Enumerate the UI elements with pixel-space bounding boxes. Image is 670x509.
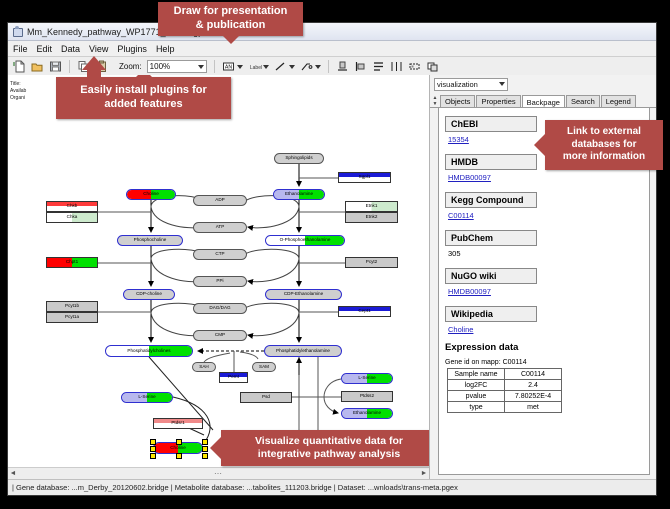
side-panel-tabs[interactable]: Objects Properties Backpage Search Legen… (430, 93, 656, 108)
pathway-node-sam[interactable]: SAM (252, 362, 276, 372)
pathway-node-etnk1[interactable]: Etnk1 (345, 201, 398, 212)
zoom-value: 100% (150, 62, 170, 71)
node-label: SAH (199, 365, 208, 370)
save-icon[interactable] (49, 60, 62, 73)
node-label: Phosphatidylethanolamine (276, 349, 330, 354)
callout-plugins-pointer-stem (87, 68, 101, 78)
tab-properties[interactable]: Properties (476, 95, 520, 107)
pathway-node-phosphocholine[interactable]: Phosphocholine (117, 235, 183, 246)
align-left-icon[interactable] (354, 60, 367, 73)
db-link-kegg[interactable]: C00114 (448, 211, 649, 220)
open-folder-icon[interactable] (31, 60, 44, 73)
callout-visualize-line1: Visualize quantitative data for (255, 435, 403, 448)
zoom-combo[interactable]: 100% (147, 60, 207, 73)
pathway-node-phosphatidylcholines[interactable]: Phosphatidylcholines (105, 345, 193, 357)
tab-search[interactable]: Search (566, 95, 600, 107)
pathway-node-atp[interactable]: ATP (193, 222, 247, 233)
datanode-tool[interactable]: AN (222, 60, 243, 73)
pathway-node-pcyt1b[interactable]: Pcyt1b (46, 301, 98, 312)
chevron-down-icon[interactable] (315, 65, 321, 69)
toolbar-separator-1 (69, 60, 70, 73)
callout-links-line2: databases for (563, 139, 645, 152)
pathway-node-psd[interactable]: Psd (240, 392, 292, 403)
cell-label: pvalue (448, 391, 505, 402)
node-label: Chka (67, 215, 78, 220)
node-label: Chpt1 (66, 260, 78, 265)
new-file-icon[interactable] (13, 60, 26, 73)
info-title-label: Title: (10, 81, 21, 87)
pathway-node-ethanolamine-top[interactable]: Ethanolamine (273, 189, 325, 200)
pathway-canvas[interactable]: Title: Availab Organi (8, 75, 429, 465)
svg-text:Label: Label (250, 65, 262, 71)
pathway-connectors (8, 75, 429, 465)
node-label: DAG/DAG (209, 306, 230, 311)
pathway-node-chka[interactable]: Chka (46, 212, 98, 223)
db-link-hmdb[interactable]: HMDB00097 (448, 173, 649, 182)
callout-links: Link to external databases for more info… (545, 120, 663, 170)
menu-help[interactable]: Help (156, 44, 175, 54)
pathway-node-cept1[interactable]: Cept1 (338, 306, 391, 317)
pathway-node-cdp-ethanolamine[interactable]: CDP-Ethanolamine (265, 289, 342, 300)
pathway-node-o-phosphoethanolamine[interactable]: O-Phosphoethanolamine (265, 235, 345, 246)
visualization-select-value: visualization (437, 80, 478, 89)
callout-visualize: Visualize quantitative data for integrat… (221, 430, 430, 466)
canvas-horizontal-scrollbar[interactable]: ◄ ⋯ ► (8, 467, 429, 479)
node-label: Choline (170, 446, 186, 451)
db-link-wikipedia[interactable]: Choline (448, 325, 649, 334)
gene-id-line: Gene id on mapp: C00114 (445, 359, 649, 366)
pathway-node-cdp-choline[interactable]: CDP-choline (123, 289, 175, 300)
statusbar-text: | Gene database: ...m_Derby_20120602.bri… (12, 483, 458, 492)
node-label: Ptdsr1 (171, 421, 184, 426)
expression-data-table: Sample name C00114 log2FC 2.4 pvalue 7.8… (447, 368, 562, 413)
pathway-node-l-serine-right[interactable]: L-Serine (341, 373, 393, 384)
pathway-node-pcyt2[interactable]: Pcyt2 (345, 257, 398, 268)
node-label: Psd (262, 395, 270, 400)
anchor-icon[interactable] (300, 60, 313, 73)
svg-text:AN: AN (225, 65, 232, 71)
menu-data[interactable]: Data (61, 44, 80, 54)
chevron-down-icon[interactable] (237, 65, 243, 69)
selection-handle-7[interactable] (202, 453, 208, 459)
node-label: ATP (216, 225, 225, 230)
scroll-left-icon[interactable]: ◄ (8, 469, 18, 479)
info-organism-label: Organi (10, 95, 25, 101)
pathway-node-chpt1[interactable]: Chpt1 (46, 257, 98, 268)
visualization-select[interactable]: visualization (434, 78, 508, 91)
chevron-down-icon (499, 82, 505, 86)
db-heading-pubchem: PubChem (445, 230, 537, 246)
pathway-node-dagdag[interactable]: DAG/DAG (193, 303, 247, 314)
callout-arrow-left-icon (534, 134, 545, 156)
menu-plugins[interactable]: Plugins (117, 44, 147, 54)
cell-value: met (505, 402, 562, 413)
menu-file[interactable]: File (13, 44, 28, 54)
node-label: L-Serine (138, 395, 155, 400)
window-titlebar: Mm_Kennedy_pathway_WP1771_45176.gpml (8, 23, 656, 41)
visualization-row: visualization (430, 75, 656, 93)
chevron-down-icon[interactable] (289, 65, 295, 69)
pathway-node-chkb[interactable]: Chkb (46, 201, 98, 212)
node-label: Choline (143, 192, 159, 197)
node-label: CTP (215, 252, 224, 257)
info-available-label: Availab (10, 88, 26, 94)
scroll-right-icon[interactable]: ► (419, 469, 429, 479)
pathway-node-sgpl1[interactable]: Sgpl1 (338, 172, 391, 183)
callout-draw-line1: Draw for presentation (174, 5, 288, 19)
node-label: Cept1 (358, 309, 370, 314)
node-label: Pemt (228, 375, 239, 380)
group-icon[interactable] (408, 60, 421, 73)
label-icon[interactable]: Label (248, 60, 261, 73)
callout-arrow-left-icon (210, 437, 221, 459)
callout-visualize-line2: integrative pathway analysis (255, 448, 403, 461)
node-label: ADP (215, 198, 224, 203)
node-label: Sgpl1 (359, 175, 371, 180)
db-heading-nugo: NuGO wiki (445, 268, 537, 284)
node-label: Chkb (67, 204, 78, 209)
pathway-node-adp[interactable]: ADP (193, 195, 247, 206)
selection-handle-0[interactable] (150, 439, 156, 445)
order-icon[interactable] (426, 60, 439, 73)
menu-edit[interactable]: Edit (37, 44, 53, 54)
selection-handle-5[interactable] (150, 453, 156, 459)
selection-handle-4[interactable] (202, 446, 208, 452)
node-label: SAM (259, 365, 269, 370)
callout-plugins: Easily install plugins for added feature… (56, 77, 231, 119)
node-label: Etnk2 (366, 215, 378, 220)
node-label: Ethanolamine (285, 192, 313, 197)
statusbar: | Gene database: ...m_Derby_20120602.bri… (8, 479, 656, 495)
pathway-node-ptdsr1[interactable]: Ptdsr1 (153, 418, 203, 429)
table-row: pvalue 7.80252E-4 (448, 391, 562, 402)
node-label: Ptdss2 (360, 394, 374, 399)
selection-handle-2[interactable] (202, 439, 208, 445)
pathway-node-pcyt1a[interactable]: Pcyt1a (46, 312, 98, 323)
cell-label: Sample name (448, 369, 505, 380)
toolbar-separator-3 (328, 60, 329, 73)
label-tool[interactable]: Label (248, 60, 269, 73)
toolbar-separator-2 (214, 60, 215, 73)
node-label: Pcyt2 (366, 260, 378, 265)
anchor-tool[interactable] (300, 60, 321, 73)
tab-legend[interactable]: Legend (601, 95, 636, 107)
node-label: CMP (215, 333, 225, 338)
menubar[interactable]: File Edit Data View Plugins Help (8, 41, 656, 57)
align-bottom-icon[interactable] (336, 60, 349, 73)
db-heading-chebi: ChEBI (445, 116, 537, 132)
pathway-node-phosphatidylethanolamine[interactable]: Phosphatidylethanolamine (264, 345, 342, 357)
callout-arrow-down-icon (222, 35, 240, 44)
zoom-label: Zoom: (119, 62, 142, 71)
node-label: Pcyt1b (65, 304, 79, 309)
pathway-canvas-pane[interactable]: Title: Availab Organi (8, 75, 430, 479)
screenshot-root: Mm_Kennedy_pathway_WP1771_45176.gpml Fil… (0, 0, 670, 509)
selection-handle-3[interactable] (150, 446, 156, 452)
callout-plugins-line2: added features (80, 98, 207, 112)
tab-scroll-arrows[interactable]: ▲▼ (432, 95, 438, 107)
db-link-nugo[interactable]: HMDB00097 (448, 287, 649, 296)
db-heading-hmdb: HMDB (445, 154, 537, 170)
datanode-icon[interactable]: AN (222, 60, 235, 73)
node-label: Phosphocholine (134, 238, 167, 243)
tab-objects[interactable]: Objects (440, 95, 475, 107)
chevron-down-icon (198, 65, 204, 69)
pathway-node-ppi[interactable]: PPi (193, 276, 247, 287)
selection-handle-6[interactable] (176, 453, 182, 459)
cell-value: C00114 (505, 369, 562, 380)
callout-draw-line2: & publication (174, 19, 288, 33)
expression-data-title: Expression data (445, 342, 649, 353)
menu-view[interactable]: View (89, 44, 108, 54)
node-label: Ethanolamine (353, 411, 381, 416)
distribute-icon[interactable] (390, 60, 403, 73)
table-row: log2FC 2.4 (448, 380, 562, 391)
pathway-node-ethanolamine-right[interactable]: Ethanolamine (341, 408, 393, 419)
callout-links-line1: Link to external (563, 126, 645, 139)
pathway-node-ptdss2[interactable]: Ptdss2 (341, 391, 393, 402)
pathway-node-l-serine-left[interactable]: L-Serine (121, 392, 173, 403)
table-row: type met (448, 402, 562, 413)
cell-value: 2.4 (505, 380, 562, 391)
scroll-thumb[interactable]: ⋯ (214, 469, 223, 478)
node-label: CDP-choline (136, 292, 162, 297)
pathway-node-choline-top[interactable]: Choline (126, 189, 176, 200)
callout-links-line3: more information (563, 151, 645, 164)
pathway-node-etnk2[interactable]: Etnk2 (345, 212, 398, 223)
selection-handle-1[interactable] (176, 439, 182, 445)
node-label: CDP-Ethanolamine (284, 292, 323, 297)
pathvisio-icon (12, 26, 23, 37)
line-icon[interactable] (274, 60, 287, 73)
table-row: Sample name C00114 (448, 369, 562, 380)
pathway-node-sah[interactable]: SAH (192, 362, 216, 372)
node-label: Pcyt1a (65, 315, 79, 320)
cell-label: log2FC (448, 380, 505, 391)
pathway-node-cmp[interactable]: CMP (193, 330, 247, 341)
db-value-pubchem: 305 (448, 249, 649, 258)
pathvisio-window: Mm_Kennedy_pathway_WP1771_45176.gpml Fil… (7, 22, 657, 496)
node-label: Sphingolipids (285, 156, 312, 161)
stack-icon[interactable] (372, 60, 385, 73)
node-label: O-Phosphoethanolamine (280, 238, 331, 243)
pathway-node-pemt[interactable]: Pemt (219, 372, 248, 383)
cell-label: type (448, 402, 505, 413)
callout-plugins-line1: Easily install plugins for (80, 84, 207, 98)
line-tool[interactable] (274, 60, 295, 73)
pathway-node-ctp[interactable]: CTP (193, 249, 247, 260)
db-heading-wikipedia: Wikipedia (445, 306, 537, 322)
callout-arrow-up-icon (135, 75, 153, 78)
node-label: PPi (216, 279, 223, 284)
pathway-node-sphingolipids[interactable]: Sphingolipids (274, 153, 324, 164)
db-heading-kegg: Kegg Compound (445, 192, 537, 208)
node-label: L-Serine (358, 376, 375, 381)
node-label: Etnk1 (366, 204, 378, 209)
node-label: Phosphatidylcholines (127, 349, 170, 354)
cell-value: 7.80252E-4 (505, 391, 562, 402)
callout-draw: Draw for presentation & publication (158, 2, 303, 36)
